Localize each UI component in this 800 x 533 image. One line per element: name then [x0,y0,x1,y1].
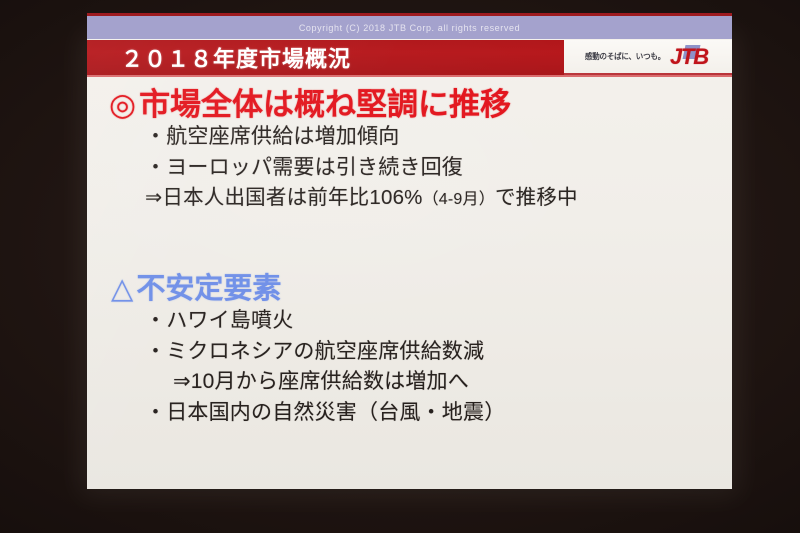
page-title: ２０１８年度市場概況 [121,41,351,73]
logo-wordmark-text: JTB [670,46,708,68]
list-item: ・ミクロネシアの航空座席供給数減 [145,337,732,368]
list-item: ・日本国内の自然災害（台風・地震） [145,398,732,429]
list-item-tail: で推移中 [495,186,578,209]
list-item: ⇒日本人出国者は前年比106%（4-9月）で推移中 [145,183,732,213]
triangle-icon: △ [111,274,133,306]
presentation-slide: ２０１８年度市場概況 感動のそばに、いつも。 JTB ◎ 市場全体は概ね堅調に推… [87,39,732,489]
list-item: ・ヨーロッパ需要は引き続き回復 [145,153,732,184]
projected-slide-photo: ２０１８年度市場概況 感動のそばに、いつも。 JTB ◎ 市場全体は概ね堅調に推… [0,0,800,533]
slide-footer: Copyright (C) 2018 JTB Corp. all rights … [87,13,732,39]
double-circle-icon: ◎ [109,88,136,122]
list-item-sub: ⇒10月から座席供給数は増加へ [173,367,732,398]
section-risk-factors: △ 不安定要素 ・ハワイ島噴火 ・ミクロネシアの航空座席供給数減 ⇒10月から座… [87,274,732,429]
section-1-heading: ◎ 市場全体は概ね堅調に推移 [109,88,732,122]
section-2-heading-text: 不安定要素 [136,274,281,306]
logo-tagline: 感動のそばに、いつも。 [585,51,665,63]
section-market-overview: ◎ 市場全体は概ね堅調に推移 ・航空座席供給は増加傾向 ・ヨーロッパ需要は引き続… [87,88,732,213]
list-item-main: ⇒日本人出国者は前年比106% [145,186,423,209]
jtb-wordmark-icon: JTB [670,44,724,70]
list-item: ・航空座席供給は増加傾向 [145,122,732,153]
section-1-heading-text: 市場全体は概ね堅調に推移 [139,88,511,122]
list-item-parenthetical: （4-9月） [423,191,495,208]
list-item: ・ハワイ島噴火 [145,306,732,337]
section-2-heading: △ 不安定要素 [111,274,732,306]
copyright-text: Copyright (C) 2018 JTB Corp. all rights … [299,23,520,33]
jtb-logo: 感動のそばに、いつも。 JTB [564,40,732,75]
